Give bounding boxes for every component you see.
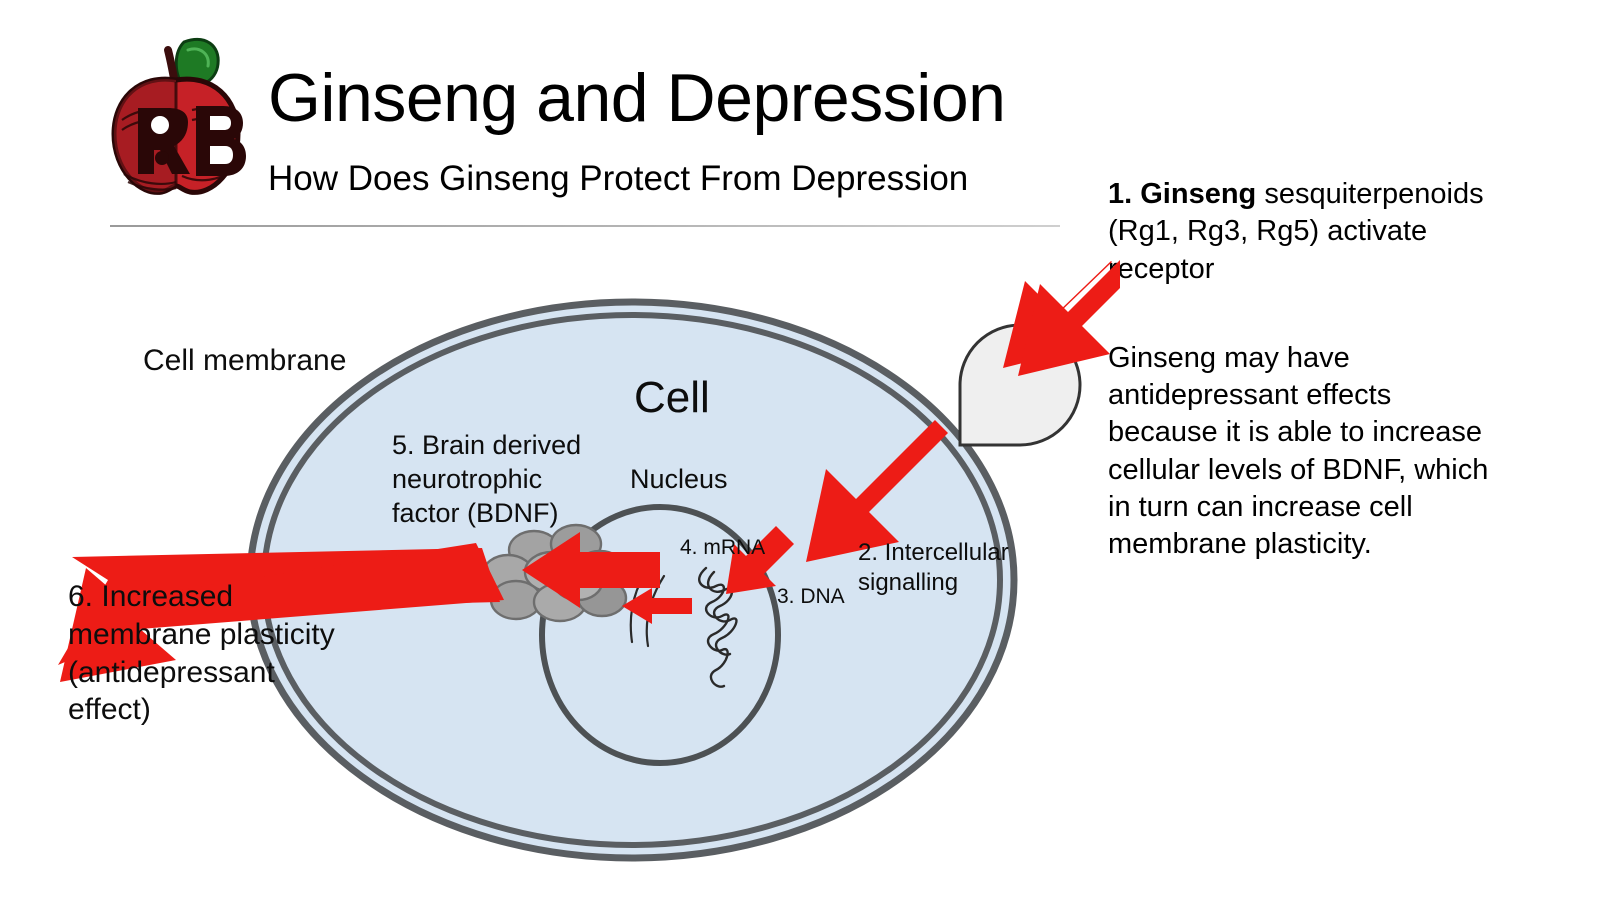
label-mrna: 4. mRNA — [680, 535, 765, 561]
label-cell: Cell — [634, 370, 710, 425]
label-cell-membrane: Cell membrane — [143, 342, 346, 380]
page-title: Ginseng and Depression — [268, 64, 1005, 132]
header-divider — [110, 225, 1060, 227]
label-membrane-plasticity: 6. Increased membrane plasticity (antide… — [68, 578, 338, 729]
rb-apple-logo — [96, 24, 256, 202]
label-bdnf: 5. Brain derived neurotrophic factor (BD… — [392, 428, 607, 530]
step-1-paragraph: 1. Ginseng sesquiterpenoids (Rg1, Rg3, R… — [1108, 176, 1502, 288]
page-subtitle: How Does Ginseng Protect From Depression — [268, 161, 968, 196]
slide-canvas: Ginseng and Depression How Does Ginseng … — [0, 0, 1600, 900]
label-nucleus: Nucleus — [630, 462, 728, 496]
label-intercellular-signalling: 2. Intercellular signalling — [858, 538, 1033, 598]
side-text-panel: 1. Ginseng sesquiterpenoids (Rg1, Rg3, R… — [1108, 176, 1502, 563]
summary-paragraph: Ginseng may have antidepressant effects … — [1108, 340, 1502, 564]
step-1-heading: 1. Ginseng — [1108, 178, 1256, 210]
label-dna: 3. DNA — [777, 584, 845, 610]
